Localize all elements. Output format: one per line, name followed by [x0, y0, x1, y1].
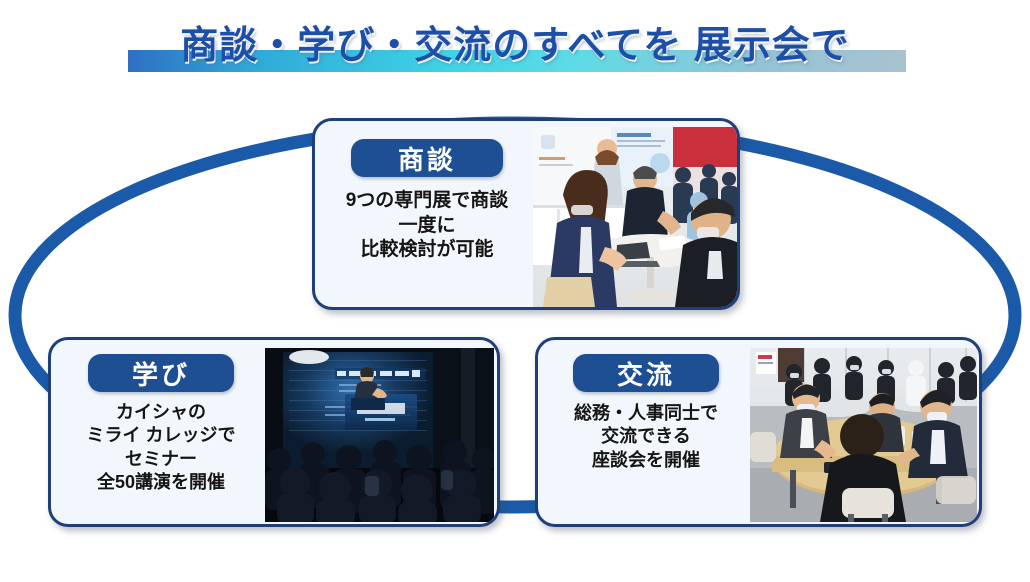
card-kouryu-body: 総務・人事同士で 交流できる 座談会を開催 — [574, 402, 718, 472]
card-shodan-body: 9つの専門展で商談 一度に 比較検討が可能 — [346, 189, 509, 263]
card-manabi-body: カイシャの ミライ カレッジで セミナー 全50講演を開催 — [86, 401, 235, 495]
card-shodan-line-1: 9つの専門展で商談 — [346, 189, 509, 214]
card-manabi-line-3: セミナー — [86, 448, 235, 471]
card-kouryu-line-2: 交流できる — [574, 425, 718, 448]
card-shodan[interactable]: 商談 9つの専門展で商談 一度に 比較検討が可能 — [312, 118, 740, 310]
card-kouryu-text-column: 交流 総務・人事同士で 交流できる 座談会を開催 — [542, 340, 750, 524]
card-shodan-inner: 商談 9つの専門展で商談 一度に 比較検討が可能 — [315, 121, 737, 307]
card-manabi-photo — [265, 348, 494, 522]
card-shodan-badge: 商談 — [351, 139, 503, 177]
card-shodan-line-2: 一度に — [346, 214, 509, 239]
card-shodan-text-column: 商談 9つの専門展で商談 一度に 比較検討が可能 — [321, 121, 533, 307]
card-kouryu-badge: 交流 — [573, 354, 719, 392]
slide-title-block: 商談・学び・交流のすべてを 展示会で — [0, 8, 1030, 80]
card-kouryu-photo: 8 — [750, 348, 977, 522]
card-manabi-line-1: カイシャの — [86, 401, 235, 424]
card-kouryu-inner: 交流 総務・人事同士で 交流できる 座談会を開催 — [538, 340, 979, 524]
card-manabi-text-column: 学び カイシャの ミライ カレッジで セミナー 全50講演を開催 — [57, 340, 265, 524]
page-title: 商談・学び・交流のすべてを 展示会で — [0, 14, 1030, 69]
card-kouryu-line-3: 座談会を開催 — [574, 449, 718, 472]
card-manabi[interactable]: 学び カイシャの ミライ カレッジで セミナー 全50講演を開催 — [48, 337, 500, 527]
card-kouryu[interactable]: 交流 総務・人事同士で 交流できる 座談会を開催 — [535, 337, 982, 527]
card-shodan-line-3: 比較検討が可能 — [346, 238, 509, 263]
slide-canvas: 商談・学び・交流のすべてを 展示会で 商談 9つの専門展で商談 一度に 比較検討… — [0, 0, 1030, 582]
card-manabi-line-2: ミライ カレッジで — [86, 424, 235, 447]
card-manabi-inner: 学び カイシャの ミライ カレッジで セミナー 全50講演を開催 — [51, 340, 497, 524]
card-manabi-badge: 学び — [88, 354, 234, 392]
card-manabi-line-4: 全50講演を開催 — [86, 471, 235, 494]
card-kouryu-line-1: 総務・人事同士で — [574, 402, 718, 425]
card-shodan-photo — [533, 127, 737, 307]
